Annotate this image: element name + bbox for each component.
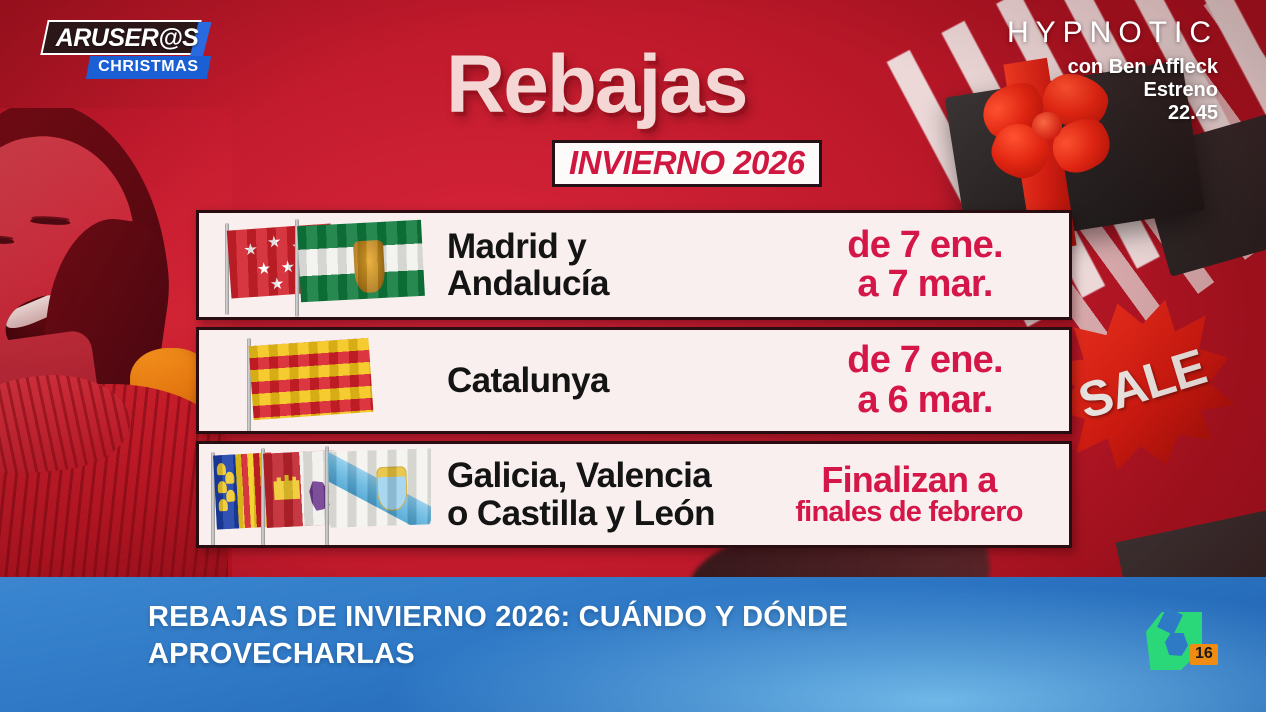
flag-cell — [199, 213, 431, 317]
region-name: Galicia, Valencia o Castilla y León — [431, 457, 749, 532]
program-logo: ARUSER@S CHRISTMAS — [44, 20, 214, 82]
promo-title: HYPNOTIC — [1007, 18, 1218, 48]
flag-cell — [199, 444, 431, 545]
galicia-flag — [328, 448, 431, 528]
headline-subtitle-badge: INVIERNO 2026 — [552, 140, 822, 187]
broadcast-screen: SALE ARUSER@S CHRISTMAS HYPNOTIC con Ben… — [0, 0, 1266, 712]
banner-headline: REBAJAS DE INVIERNO 2026: CUÁNDO Y DÓNDE… — [148, 599, 1048, 672]
logo-sub-badge: CHRISTMAS — [86, 56, 211, 79]
region-name: Madrid y Andalucía — [431, 228, 781, 303]
date-line-1: de 7 ene. — [781, 341, 1069, 380]
promo-block: HYPNOTIC con Ben Affleck Estreno 22.45 — [1007, 18, 1218, 124]
region-name-line1: Madrid y — [447, 228, 781, 265]
banner-headline-line2: APROVECHARLAS — [148, 636, 1048, 673]
lower-third-banner: REBAJAS DE INVIERNO 2026: CUÁNDO Y DÓNDE… — [0, 577, 1266, 712]
headline-title: Rebajas — [446, 44, 866, 126]
promo-time: 22.45 — [1007, 102, 1218, 125]
promo-premiere-label: Estreno — [1007, 79, 1218, 102]
logo-sub-text: CHRISTMAS — [98, 58, 199, 76]
date-line-2: a 7 mar. — [781, 265, 1069, 304]
catalunya-flag — [249, 338, 374, 420]
date-line-1: Finalizan a — [749, 461, 1069, 498]
region-name-line1: Galicia, Valencia — [447, 457, 749, 494]
age-rating-badge: 16 — [1190, 644, 1218, 665]
region-name: Catalunya — [431, 362, 781, 399]
headline-subtitle: INVIERNO 2026 — [569, 146, 805, 179]
region-name-line2: Andalucía — [447, 265, 781, 302]
region-name-line1: Catalunya — [447, 362, 781, 399]
promo-cast: con Ben Affleck — [1007, 56, 1218, 79]
table-row: Catalunya de 7 ene. a 6 mar. — [196, 327, 1072, 434]
banner-headline-line1: REBAJAS DE INVIERNO 2026: CUÁNDO Y DÓNDE — [148, 599, 1048, 636]
headline-block: Rebajas INVIERNO 2026 — [446, 44, 866, 184]
date-range: de 7 ene. a 7 mar. — [781, 226, 1069, 304]
flag-cell — [199, 330, 431, 431]
region-name-line2: o Castilla y León — [447, 495, 749, 532]
andalucia-flag — [297, 220, 425, 302]
table-row: Galicia, Valencia o Castilla y León Fina… — [196, 441, 1072, 548]
date-line-2: a 6 mar. — [781, 381, 1069, 420]
date-range: de 7 ene. a 6 mar. — [781, 341, 1069, 419]
date-range: Finalizan a finales de febrero — [749, 461, 1069, 528]
logo-main-text: ARUSER@S — [52, 22, 202, 54]
date-line-1: de 7 ene. — [781, 226, 1069, 265]
date-line-2: finales de febrero — [749, 498, 1069, 528]
table-row: Madrid y Andalucía de 7 ene. a 7 mar. — [196, 210, 1072, 320]
